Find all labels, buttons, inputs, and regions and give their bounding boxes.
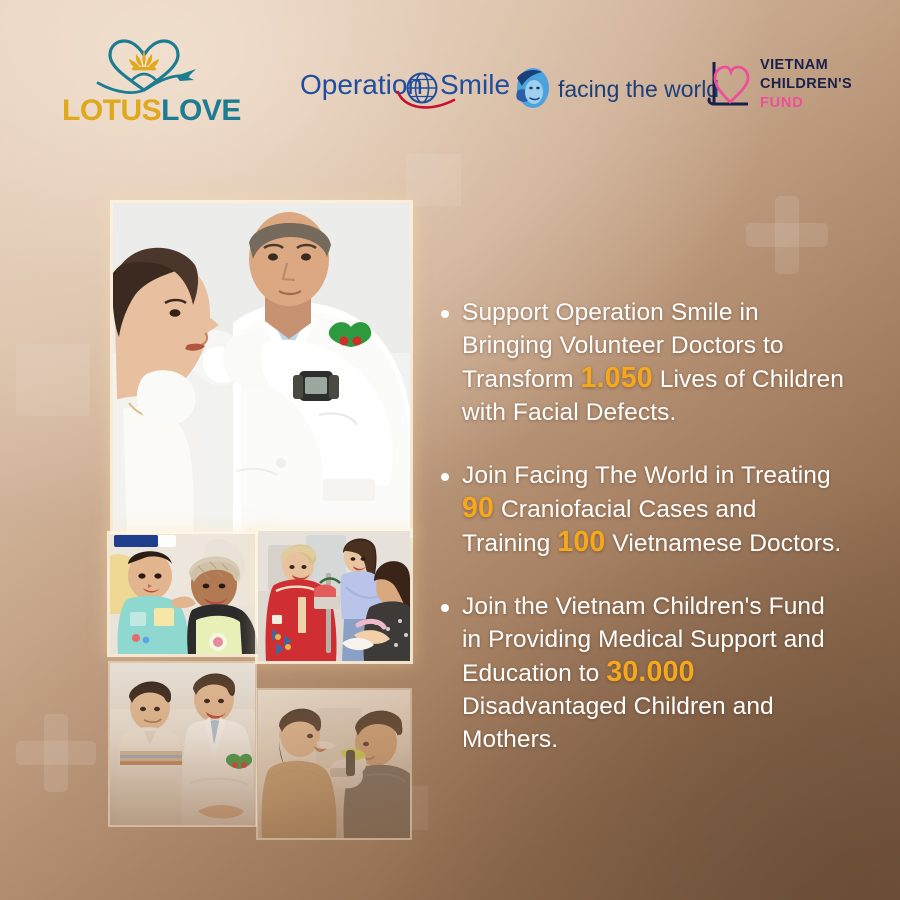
point-highlight-number: 90 [462,492,494,524]
point-highlight-number: 100 [557,526,605,558]
logo-facing-the-world: facing the world [512,66,698,114]
point-text-segment: Vietnamese Doctors. [605,530,841,557]
photo-collage [110,198,416,858]
point-text-segment: Join Facing The World in Treating [462,462,831,489]
bullet-dot-icon [441,604,449,612]
logo-header-strip: LOTUSLOVE Operation Smile [0,0,900,150]
point-text-segment: Disadvantaged Children and Mothers. [462,693,774,753]
point-vietnam-childrens-fund: Join the Vietnam Children's Fund in Prov… [430,590,850,756]
watermark-square-left [16,344,90,416]
point-vietnam-childrens-fund-text: Join the Vietnam Children's Fund in Prov… [462,590,850,756]
operation-smile-word-2: Smile [440,68,510,102]
photo-boy-with-doctor [110,663,255,825]
face-profile-icon [512,66,552,112]
poster-canvas: LOTUSLOVE Operation Smile [0,0,900,900]
point-facing-the-world-text: Join Facing The World in Treating 90 Cra… [462,459,850,560]
photo-nurse-holding-baby [110,534,262,654]
watermark-cross-left [16,714,96,792]
vcf-line-2: CHILDREN'S [760,75,868,94]
lotus-word-1: LOTUS [62,94,161,127]
lotus-word-2: LOVE [161,94,241,127]
point-operation-smile: Support Operation Smile in Bringing Volu… [430,296,850,429]
heart-lotus-airplane-icon [84,36,204,98]
logo-vietnam-childrens-fund: VIETNAM CHILDREN'S FUND [706,56,866,116]
vcf-wordmark: VIETNAM CHILDREN'S FUND [760,56,868,113]
bracket-heart-icon [706,58,752,112]
bullet-dot-icon [441,473,449,481]
watermark-cross-right [746,196,828,274]
point-facing-the-world: Join Facing The World in Treating 90 Cra… [430,459,850,560]
bullet-dot-icon [441,310,449,318]
key-points-list: Support Operation Smile in Bringing Volu… [430,296,850,756]
facing-the-world-wordmark: facing the world [558,74,719,104]
vcf-line-1: VIETNAM [760,56,868,75]
photo-doctor-examining-patient [113,203,410,535]
photo-hospital-visit [258,531,410,661]
logo-operation-smile: Operation Smile [300,68,510,114]
point-highlight-number: 1.050 [581,362,653,394]
logo-lotus-love-wordmark: LOTUSLOVE [62,94,242,128]
vcf-line-3: FUND [760,94,868,113]
point-operation-smile-text: Support Operation Smile in Bringing Volu… [462,296,850,429]
logo-lotus-love: LOTUSLOVE [62,36,242,132]
photo-child-examination [258,690,410,838]
point-highlight-number: 30.000 [606,656,694,688]
